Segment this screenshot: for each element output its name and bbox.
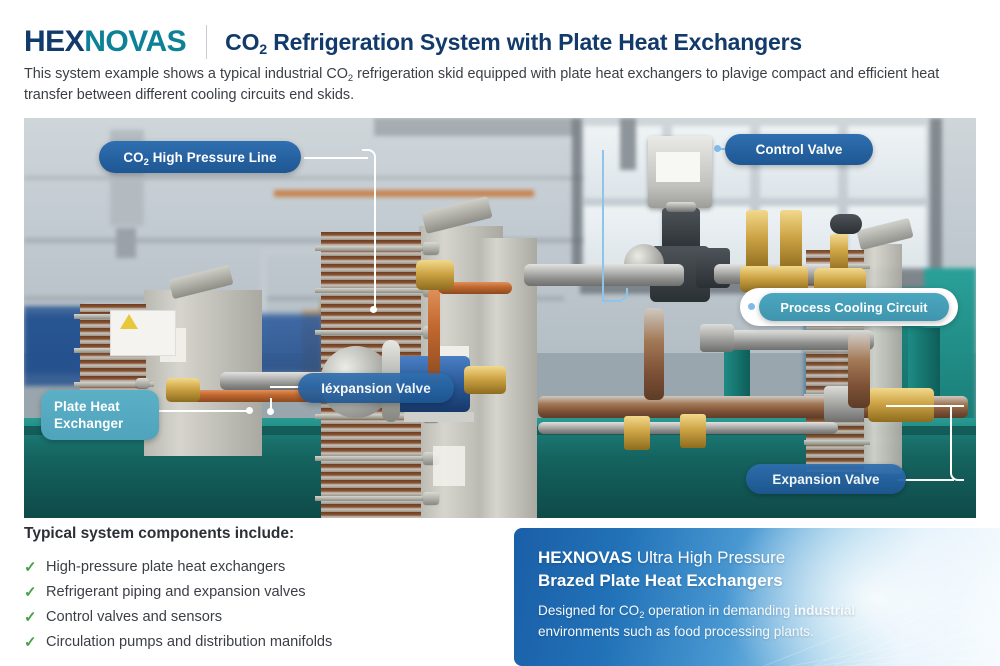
panel-body: HEXNOVAS Ultra High Pressure Brazed Plat… bbox=[514, 528, 1000, 642]
page-title: CO2 Refrigeration System with Plate Heat… bbox=[225, 29, 802, 56]
brand-logo: HEXNOVAS bbox=[24, 27, 186, 57]
panel-heading-rest: Ultra High Pressure bbox=[632, 548, 785, 567]
panel-desc-post: environments such as food processing pla… bbox=[538, 624, 814, 639]
component-label: Control valves and sensors bbox=[46, 609, 222, 625]
callout-label: Iéxpansion Valve bbox=[321, 381, 431, 396]
system-photo: CO2 High Pressure Line Control Valve Pro… bbox=[24, 118, 976, 518]
callout-label: Control Valve bbox=[756, 142, 843, 157]
callout-control-valve[interactable]: Control Valve bbox=[725, 134, 873, 165]
leader-vert-control-valve bbox=[602, 150, 604, 302]
component-list-item: ✓ Control valves and sensors bbox=[24, 604, 494, 629]
leader-line-co2 bbox=[304, 157, 368, 159]
callout-label: Expansion Valve bbox=[772, 472, 879, 487]
panel-desc-pre: Designed for CO bbox=[538, 603, 639, 618]
panel-description: Designed for CO2 operation in demanding … bbox=[538, 601, 938, 642]
callout-expansion-valve-upper[interactable]: Iéxpansion Valve bbox=[298, 373, 454, 403]
leader-corner-expansion-lower bbox=[950, 405, 964, 481]
callout-label: Process Cooling Circuit bbox=[780, 300, 927, 315]
leader-horiz-expansion-lower-b bbox=[898, 479, 954, 481]
panel-desc-subscript: 2 bbox=[639, 610, 644, 620]
leader-dot-plate-heat-exchanger bbox=[246, 407, 253, 414]
callout-label: CO2 High Pressure Line bbox=[123, 150, 276, 165]
panel-desc-bold: industrial bbox=[794, 603, 855, 618]
product-promo-panel[interactable]: HEXNOVAS Ultra High Pressure Brazed Plat… bbox=[514, 528, 1000, 666]
intro-subscript: 2 bbox=[348, 73, 353, 83]
leader-horiz-plate-heat-exchanger bbox=[148, 410, 250, 412]
intro-paragraph: This system example shows a typical indu… bbox=[24, 64, 990, 105]
leader-dot-process-cooling bbox=[748, 303, 755, 310]
component-label: Circulation pumps and distribution manif… bbox=[46, 634, 332, 650]
callout-label-line2: Exchanger bbox=[54, 415, 123, 432]
page-title-post: Refrigeration System with Plate Heat Exc… bbox=[267, 29, 802, 55]
photo-phx-right bbox=[402, 230, 406, 232]
check-icon: ✓ bbox=[24, 633, 46, 651]
callout-label-line1: Plate Heat bbox=[54, 398, 120, 415]
logo-text-novas: NOVAS bbox=[84, 25, 186, 58]
check-icon: ✓ bbox=[24, 558, 46, 576]
leader-vert-co2 bbox=[374, 163, 376, 307]
callout-process-cooling-circuit[interactable]: Process Cooling Circuit bbox=[759, 293, 949, 321]
panel-heading-brand: HEXNOVAS bbox=[538, 548, 632, 567]
intro-text-a: This system example shows a typical indu… bbox=[24, 66, 348, 82]
check-icon: ✓ bbox=[24, 583, 46, 601]
logo-text-hex: HEX bbox=[24, 25, 84, 58]
page-title-pre: CO bbox=[225, 29, 259, 55]
callout-plate-heat-exchanger[interactable]: Plate Heat Exchanger bbox=[41, 390, 159, 440]
photo-scene: CO2 High Pressure Line Control Valve Pro… bbox=[24, 118, 976, 518]
page-title-subscript: 2 bbox=[259, 42, 267, 58]
callout-expansion-valve-lower[interactable]: Expansion Valve bbox=[746, 464, 906, 494]
header-divider bbox=[206, 25, 207, 59]
leader-dot-expansion-upper bbox=[267, 408, 274, 415]
callout-co2-high-pressure-line[interactable]: CO2 High Pressure Line bbox=[99, 141, 301, 173]
component-label: High-pressure plate heat exchangers bbox=[46, 559, 285, 575]
components-title: Typical system components include: bbox=[24, 525, 494, 543]
panel-desc-mid: operation in demanding bbox=[644, 603, 794, 618]
component-list-item: ✓ High-pressure plate heat exchangers bbox=[24, 554, 494, 579]
leader-corner-control-valve bbox=[602, 288, 628, 302]
leader-dot-control-valve bbox=[714, 145, 721, 152]
infographic-page: HEXNOVAS CO2 Refrigeration System with P… bbox=[0, 0, 1000, 666]
component-list-item: ✓ Circulation pumps and distribution man… bbox=[24, 629, 494, 654]
leader-horiz-expansion-upper bbox=[270, 386, 300, 388]
components-section: Typical system components include: ✓ Hig… bbox=[24, 525, 494, 654]
check-icon: ✓ bbox=[24, 608, 46, 626]
component-list-item: ✓ Refrigerant piping and expansion valve… bbox=[24, 579, 494, 604]
panel-heading-line2: Brazed Plate Heat Exchangers bbox=[538, 571, 783, 590]
panel-heading: HEXNOVAS Ultra High Pressure Brazed Plat… bbox=[538, 546, 978, 592]
component-label: Refrigerant piping and expansion valves bbox=[46, 584, 306, 600]
leader-dot-co2 bbox=[370, 306, 377, 313]
page-header: HEXNOVAS CO2 Refrigeration System with P… bbox=[24, 20, 984, 64]
